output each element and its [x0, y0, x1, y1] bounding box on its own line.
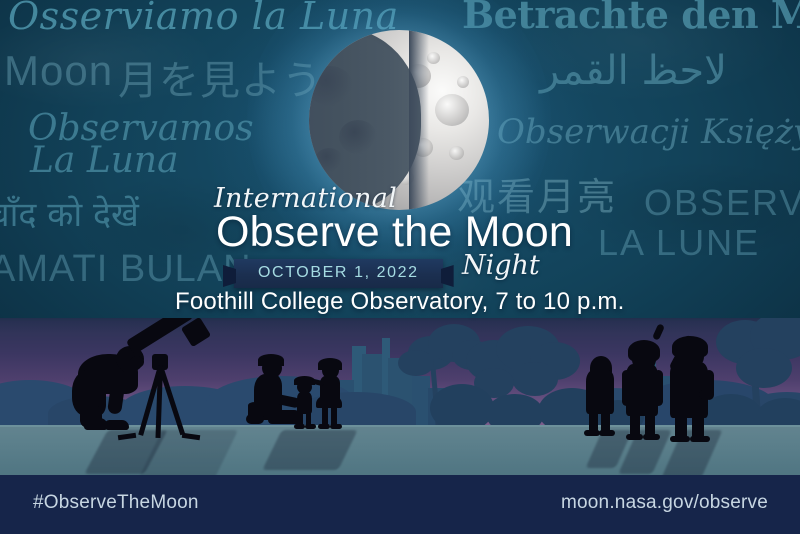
bg-word-english: Moon — [4, 47, 113, 95]
event-date-text: OCTOBER 1, 2022 — [258, 264, 419, 281]
bg-word-arabic: لاحظ القمر — [540, 48, 727, 94]
hashtag-text: #ObserveTheMoon — [33, 492, 199, 514]
footer-bar: #ObserveTheMoon moon.nasa.gov/observe — [0, 475, 800, 534]
title-observe-the-moon: Observe the Moon — [216, 209, 573, 256]
bg-word-hindi: चाँद को देखें — [0, 190, 139, 236]
date-ribbon: OCTOBER 1, 2022 — [234, 259, 443, 288]
bg-word-spanish-2: La Luna — [30, 140, 179, 181]
venue-and-time-text: Foothill College Observatory, 7 to 10 p.… — [175, 288, 625, 316]
bg-word-french-2: LA LUNE — [598, 222, 760, 264]
title-night: Night — [462, 250, 540, 281]
bg-word-french-1: OBSERVONS — [644, 182, 800, 224]
poster-canvas: Osserviamo la Luna Betrachte den Mond Mo… — [0, 0, 800, 534]
bg-word-indonesian: AMATI BULAN — [0, 248, 252, 291]
date-ribbon-body: OCTOBER 1, 2022 — [234, 259, 443, 288]
website-url[interactable]: moon.nasa.gov/observe — [561, 492, 768, 514]
sky-blend-fade — [0, 318, 800, 332]
